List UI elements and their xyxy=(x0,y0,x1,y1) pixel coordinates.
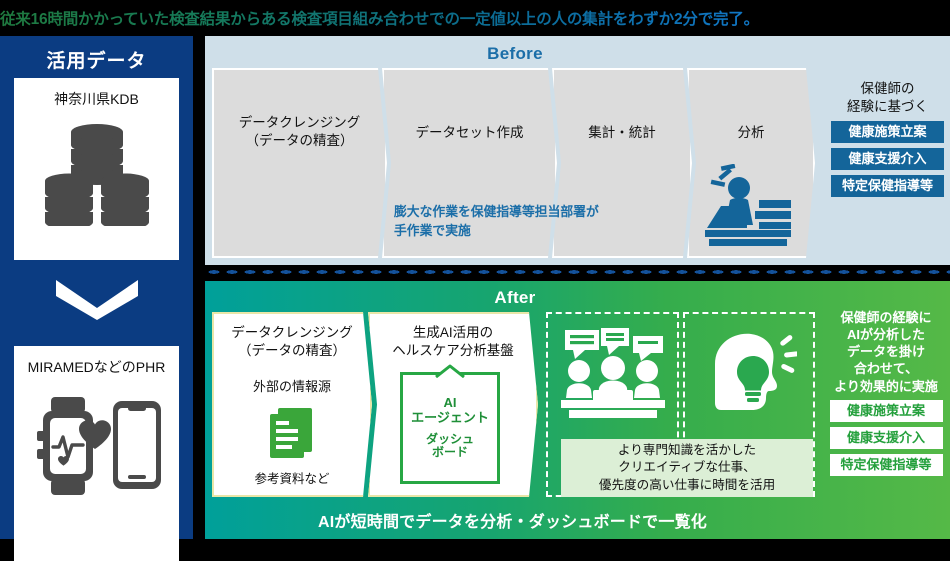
sidebar-card-kdb-title: 神奈川県KDB xyxy=(54,91,139,109)
person-at-desk-icon xyxy=(699,164,799,251)
after-outcome-title: 保健師の経験に AIが分析した データを掛け 合わせて、 より効果的に実施 xyxy=(822,309,950,395)
after-badge-1: 健康施策立案 xyxy=(830,400,943,422)
ai-box-line2: ダッシュ ボード xyxy=(426,433,474,461)
after-banner-text: AIが短時間でデータを分析・ダッシュボードで一覧化 xyxy=(318,508,707,532)
before-step-2-label: データセット作成 xyxy=(384,124,555,142)
comparison-pane: Before データクレンジング （データの精査） データセット作成 集計・統計… xyxy=(197,36,950,539)
before-manual-note: 膨大な作業を保健指導等担当部署が 手作業で実施 xyxy=(394,202,694,240)
smartwatch-phone-icon xyxy=(29,393,165,508)
meeting-people-icon xyxy=(557,328,669,425)
before-step-3-label: 集計・統計 xyxy=(554,124,690,142)
head-lightbulb-icon xyxy=(701,330,797,429)
after-section: After データクレンジング （データの精査） 外部の情報源 xyxy=(205,281,950,539)
sidebar-card-phr-title: MIRAMEDなどのPHR xyxy=(28,359,166,377)
section-divider xyxy=(205,269,950,275)
ai-box-notch-icon xyxy=(435,364,465,383)
after-step-1-sub: 外部の情報源 xyxy=(214,376,370,395)
infographic-root: 従来16時間かかっていた検査結果からある検査項目組み合わせでの一定値以上の人の集… xyxy=(0,0,950,539)
document-icon xyxy=(262,400,322,465)
before-flow: データクレンジング （データの精査） データセット作成 集計・統計 分析 膨大な… xyxy=(212,68,815,258)
after-step-1-label: データクレンジング （データの精査） xyxy=(214,324,370,360)
before-step-4-label: 分析 xyxy=(689,124,813,142)
before-step-1: データクレンジング （データの精査） xyxy=(212,68,387,258)
ai-box-line1: AI エージェント xyxy=(411,396,489,426)
before-badge-3: 特定保健指導等 xyxy=(831,175,944,197)
ai-dashboard-box: AI エージェント ダッシュ ボード xyxy=(400,372,500,484)
after-callout: より専門知識を活かした クリエイティブな仕事、 優先度の高い仕事に時間を活用 xyxy=(561,439,813,497)
before-outcome-column: 保健師の 経験に基づく 健康施策立案 健康支援介入 特定保健指導等 xyxy=(825,36,950,197)
before-step-1-label: データクレンジング （データの精査） xyxy=(214,114,385,150)
after-flow: データクレンジング （データの精査） 外部の情報源 xyxy=(212,312,815,497)
sidebar-card-phr: MIRAMEDなどのPHR xyxy=(14,346,179,561)
after-badge-2: 健康支援介入 xyxy=(830,427,943,449)
after-bottom-banner: AIが短時間でデータを分析・ダッシュボードで一覧化 xyxy=(205,501,950,539)
before-outcome-title: 保健師の 経験に基づく xyxy=(825,80,950,116)
after-badge-3: 特定保健指導等 xyxy=(830,454,943,476)
sidebar-title: 活用データ xyxy=(0,46,193,73)
before-badge-1: 健康施策立案 xyxy=(831,121,944,143)
before-badge-2: 健康支援介入 xyxy=(831,148,944,170)
after-step-1: データクレンジング （データの精査） 外部の情報源 xyxy=(212,312,372,497)
after-outcome-column: 保健師の経験に AIが分析した データを掛け 合わせて、 より効果的に実施 健康… xyxy=(822,281,950,476)
database-stack-icon xyxy=(41,118,153,231)
after-step-2-label: 生成AI活用の ヘルスケア分析基盤 xyxy=(370,324,536,360)
after-label: After xyxy=(205,288,825,308)
sidebar-data-sources: 活用データ 神奈川県KDB xyxy=(0,36,193,539)
sidebar-card-kdb: 神奈川県KDB xyxy=(14,78,179,260)
page-headline: 従来16時間かかっていた検査結果からある検査項目組み合わせでの一定値以上の人の集… xyxy=(0,4,950,32)
after-step-2: 生成AI活用の ヘルスケア分析基盤 AI エージェント ダッシュ ボード xyxy=(368,312,538,497)
after-callout-text: より専門知識を活かした クリエイティブな仕事、 優先度の高い仕事に時間を活用 xyxy=(599,442,775,494)
after-step-1-foot: 参考資料など xyxy=(214,468,370,487)
before-section: Before データクレンジング （データの精査） データセット作成 集計・統計… xyxy=(205,36,950,265)
before-label: Before xyxy=(205,44,825,64)
chevron-down-icon xyxy=(56,276,138,320)
